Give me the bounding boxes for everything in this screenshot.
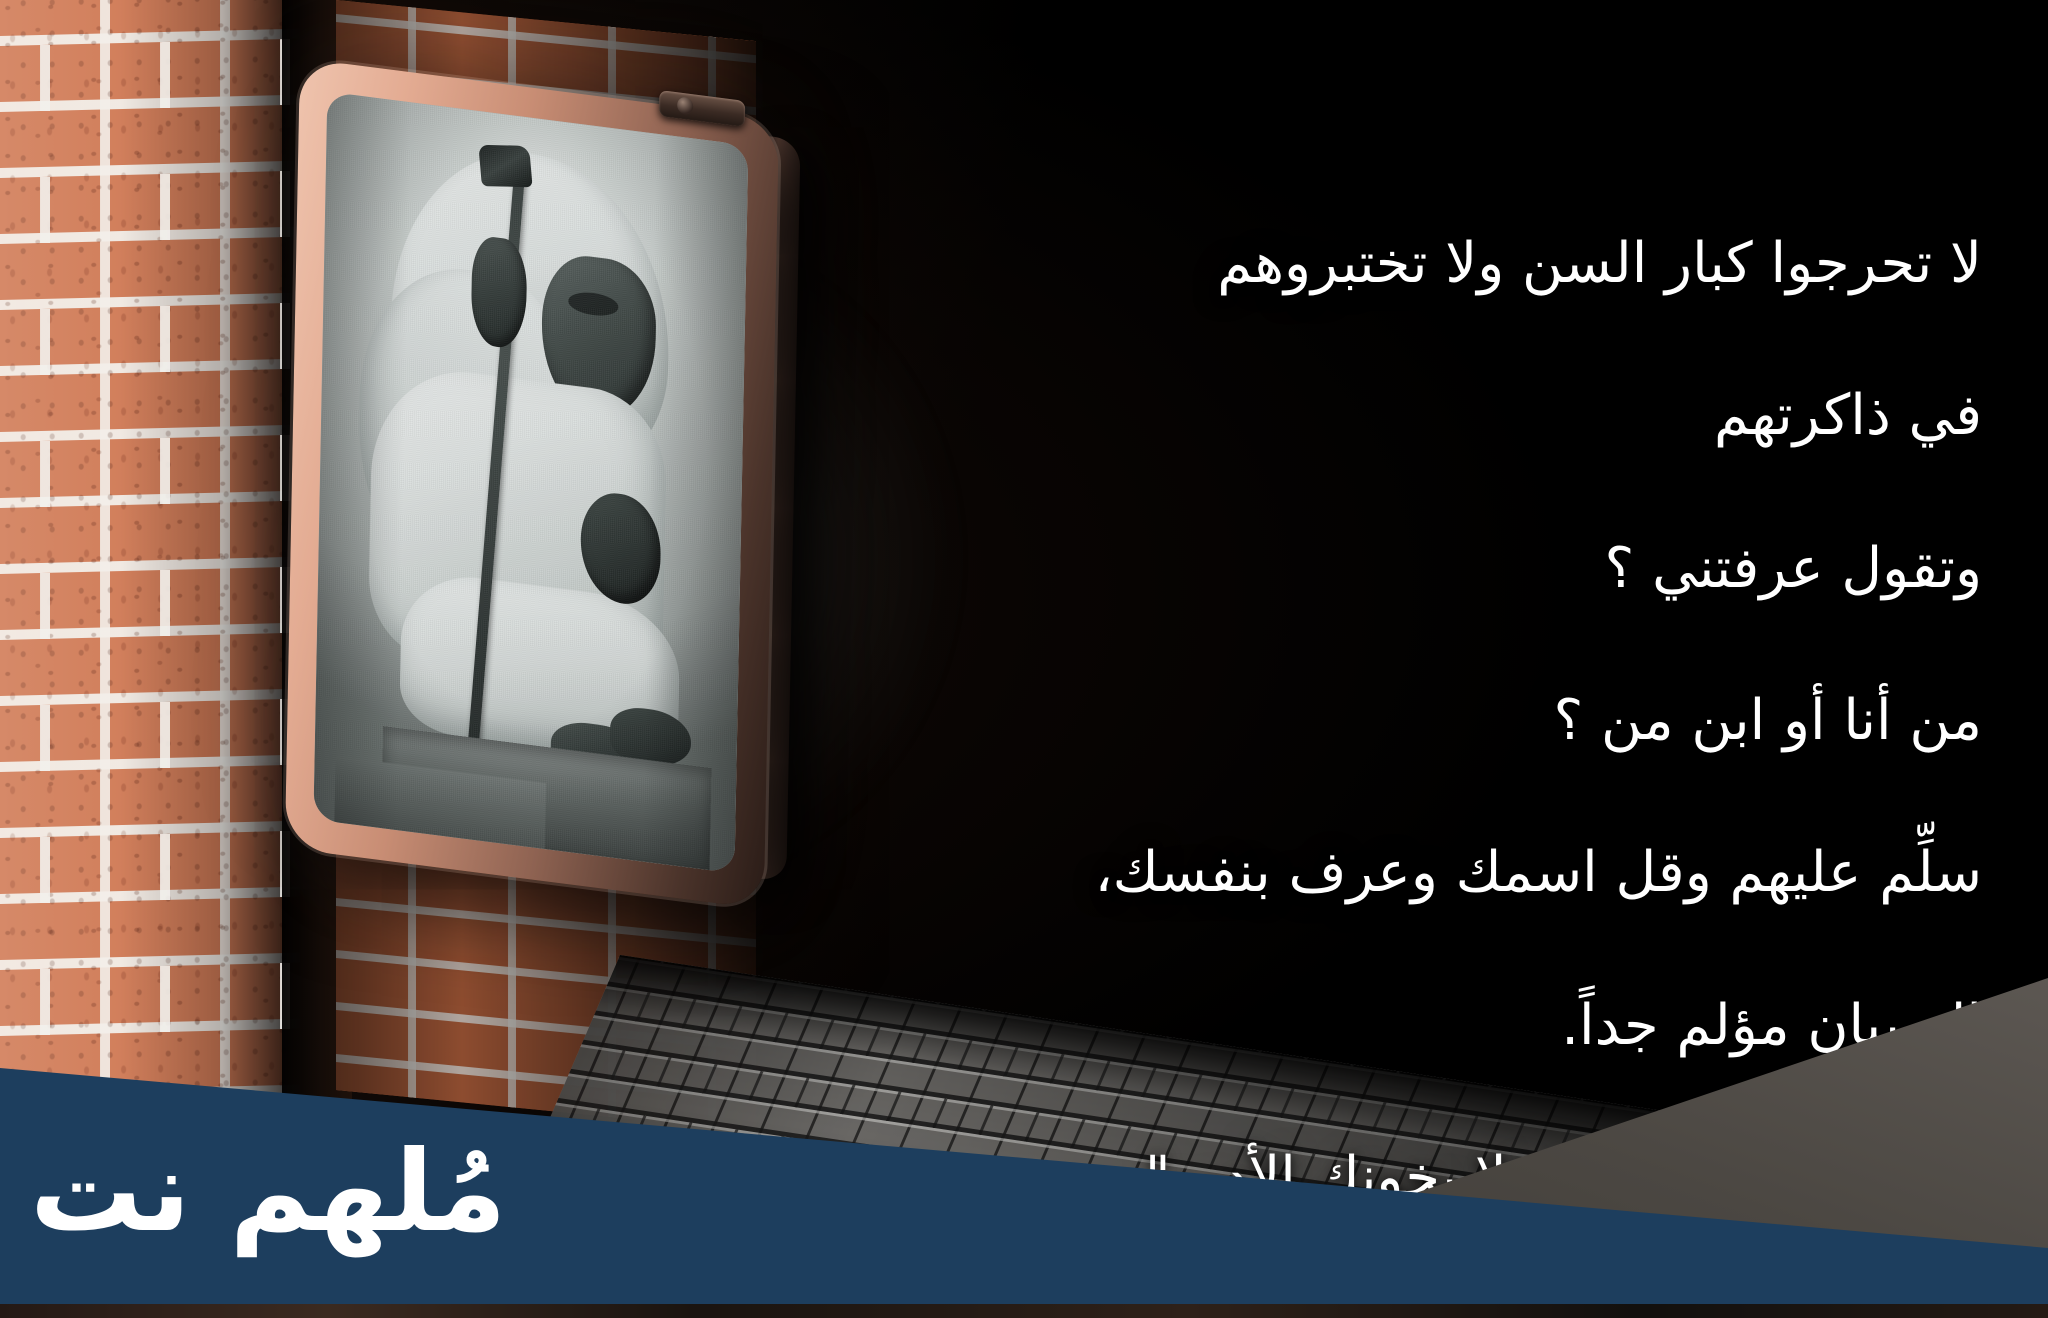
footer-strip — [0, 1304, 2048, 1318]
brick-wall-left — [0, 0, 300, 1130]
brick-texture-overlay — [0, 0, 300, 1130]
quote-line-5: سلِّم عليهم وقل اسمك وعرف بنفسك، — [752, 835, 1982, 911]
smartphone-mockup — [285, 58, 779, 909]
elderly-man-photo — [313, 92, 748, 874]
quote-line-3: وتقول عرفتني ؟ — [752, 531, 1982, 607]
quote-card-canvas: لا تحرجوا كبار السن ولا تختبروهم في ذاكر… — [0, 0, 2048, 1318]
quote-line-6: النسيان مؤلم جداً. — [752, 988, 1982, 1064]
quote-line-2: في ذاكرتهم — [752, 378, 1982, 454]
photo-vignette — [313, 92, 748, 874]
quote-line-4: من أنا أو ابن من ؟ — [752, 683, 1982, 759]
phone-screen — [313, 92, 748, 874]
brick-shadow-overlay — [0, 0, 300, 1130]
quote-line-1: لا تحرجوا كبار السن ولا تختبروهم — [752, 226, 1982, 302]
brand-logo-text: مُلهم نت — [30, 1136, 506, 1248]
